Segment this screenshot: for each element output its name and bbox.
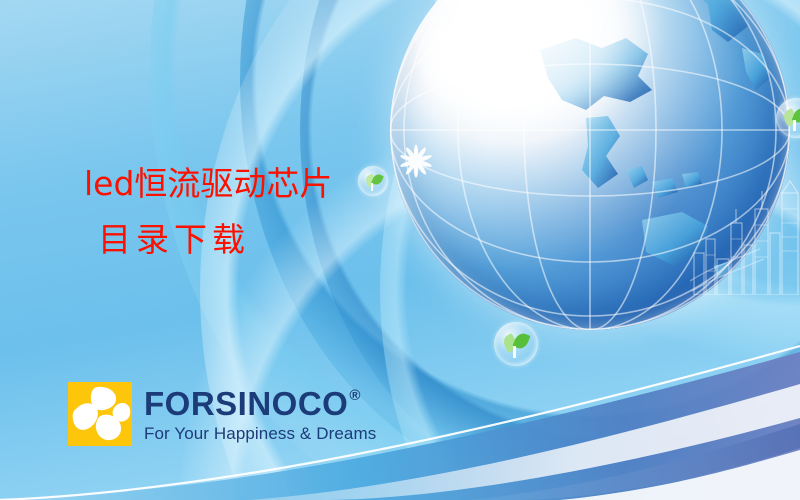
city-skyline-icon	[690, 175, 800, 295]
four-petal-pinwheel-icon	[68, 382, 132, 446]
registered-mark: ®	[349, 388, 361, 403]
leaf-stem	[793, 120, 796, 131]
company-logo: FORSINOCO ® For Your Happiness & Dreams	[68, 382, 376, 446]
leaf-stem	[513, 346, 516, 358]
pinwheel-petals	[68, 382, 132, 446]
logo-text-block: FORSINOCO ® For Your Happiness & Dreams	[144, 387, 376, 442]
leaf-bubble-lower-left	[494, 322, 538, 366]
brand-name-text: FORSINOCO	[144, 387, 348, 420]
headline: led恒流驱动芯片 目录下载	[84, 163, 504, 262]
headline-line-1: led恒流驱动芯片	[84, 163, 504, 206]
brand-tagline: For Your Happiness & Dreams	[144, 425, 376, 442]
headline-line-2: 目录下载	[98, 219, 504, 262]
poster-canvas: led恒流驱动芯片 目录下载 FORSINOCO ® For Your Happ…	[0, 0, 800, 500]
brand-name: FORSINOCO ®	[144, 387, 376, 420]
